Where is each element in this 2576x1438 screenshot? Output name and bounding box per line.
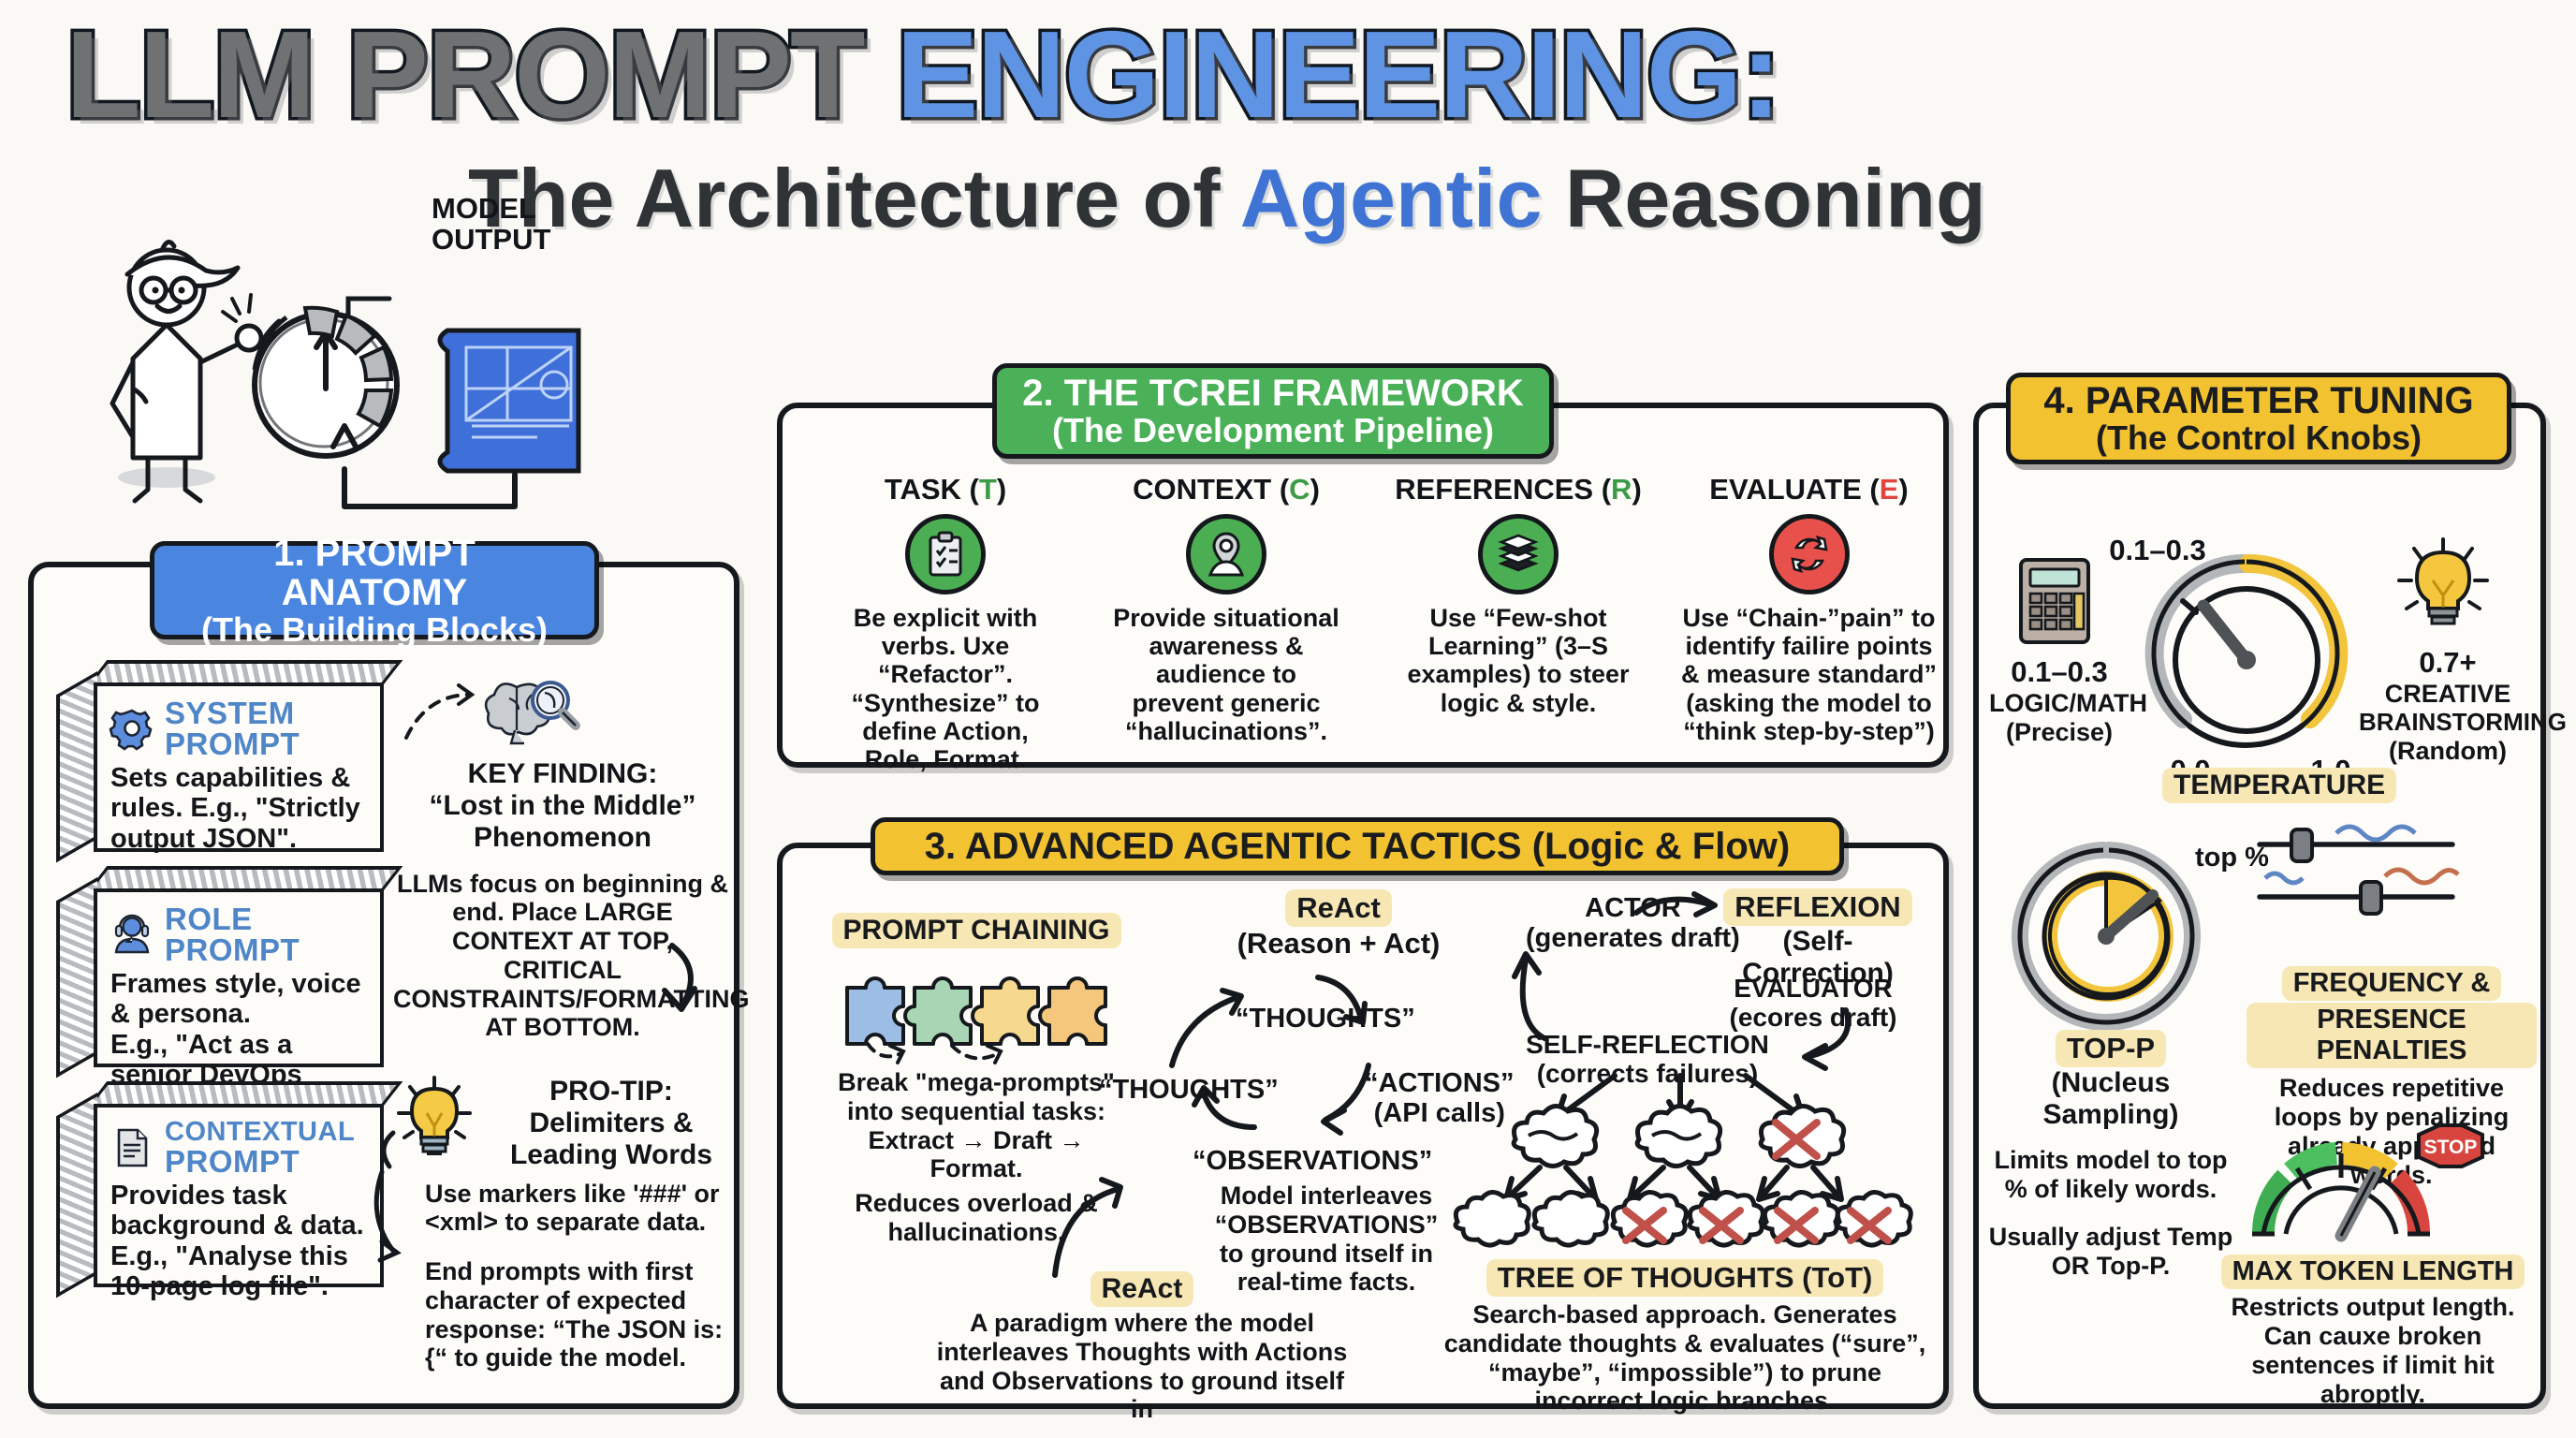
prompt-chaining-title: PROMPT CHAINING xyxy=(832,913,1121,948)
brain-magnifier-icon xyxy=(486,682,576,743)
subtitle-part-3: Reasoning xyxy=(1542,152,1985,244)
top-p-gauge xyxy=(1998,833,2214,1039)
react-caption: ReAct A paradigm where the model interle… xyxy=(936,1271,1348,1424)
react-caption-body: A paradigm where the model interleaves T… xyxy=(936,1309,1348,1424)
block-system-prompt: SYSTEM PROMPT Sets capabilities & rules.… xyxy=(56,660,384,852)
tc-icon-circle xyxy=(1478,514,1559,594)
pro-tip-heading-3: Leading Words xyxy=(485,1139,738,1171)
react-node-thoughts-top: “THOUGHTS” xyxy=(1236,1004,1415,1034)
max-tokens-block: MAX TOKEN LENGTH Restricts output length… xyxy=(2218,1255,2527,1409)
tot-title: TREE OF THOUGHTS (ToT) xyxy=(1486,1259,1884,1297)
key-finding-down-arrow xyxy=(655,936,768,1049)
gauge-stop-icon: STOP xyxy=(2228,1123,2509,1255)
block-role-prompt: ROLE PROMPT Frames style, voice & person… xyxy=(56,866,384,1067)
page-subtitle: The Architecture of Agentic Reasoning xyxy=(468,157,2565,240)
temperature-right-label-1: CREATIVE xyxy=(2359,680,2537,709)
pro-tip-heading-1: PRO-TIP: xyxy=(485,1076,738,1108)
block-label-line2: PROMPT xyxy=(165,1146,355,1177)
lightbulb-icon xyxy=(2392,536,2495,638)
key-finding-icon-row xyxy=(402,674,730,740)
tc-letter: C xyxy=(1289,473,1310,506)
panel3-banner: 3. ADVANCED AGENTIC TACTICS (Logic & Flo… xyxy=(871,817,1844,875)
key-finding-heading-2: “Lost in the Middle” xyxy=(393,790,732,822)
blueprint-icon xyxy=(440,330,578,471)
tcrei-column-references: REFERENCES (R) Use “Few-shot Learning” (… xyxy=(1392,473,1645,717)
tc-title-text: EVALUATE xyxy=(1709,473,1861,506)
thought-clouds xyxy=(1456,1106,1910,1245)
tc-title-text: TASK xyxy=(885,473,961,506)
panel2-banner: 2. THE TCREI FRAMEWORK (The Development … xyxy=(992,363,1554,459)
temperature-name-chip: TEMPERATURE xyxy=(2162,768,2378,803)
page-title: LLM PROMPT ENGINEERING: xyxy=(66,13,2555,154)
panel1-banner-line2: (The Building Blocks) xyxy=(179,612,570,648)
top-p-body-1: Limits model to top % of likely words. xyxy=(1984,1146,2237,1204)
tcrei-column-evaluate: EVALUATE (E) Use “Chain-”pain” to identi… xyxy=(1676,473,1942,745)
penalties-name-1: FREQUENCY & xyxy=(2282,966,2502,1001)
puzzle-pieces-icon xyxy=(836,960,1117,1064)
reflexion-evaluator: EVALUATOR xyxy=(1705,975,1921,1004)
tree-of-thoughts-diagram xyxy=(1446,1072,1914,1259)
tc-desc: Be explicit with verbs. Uxe “Refactor”. … xyxy=(828,604,1062,773)
temperature-left-value: 0.1–0.3 xyxy=(1989,655,2130,689)
title-part-llm-prompt: LLM PROMPT xyxy=(66,6,896,143)
stop-sign-icon: STOP xyxy=(2419,1125,2482,1167)
reflexion-right-arrow xyxy=(1747,1006,1859,1081)
top-p-subtitle: (Nucleus Sampling) xyxy=(1984,1067,2237,1131)
pro-tip-body-1: Use markers like '###' or <xml> to separ… xyxy=(391,1180,738,1238)
react-title: ReAct xyxy=(1285,889,1392,927)
temperature-right-value: 0.7+ xyxy=(2359,646,2537,680)
block-body: Provides task background & data. E.g., "… xyxy=(110,1181,367,1302)
title-part-engineering: ENGINEERING: xyxy=(896,6,1779,143)
tc-title-text: CONTEXT xyxy=(1133,473,1271,506)
block-label-line2: PROMPT xyxy=(165,934,300,965)
tc-letter: R xyxy=(1611,473,1632,506)
block-label-line2: PROMPT xyxy=(165,728,300,759)
tcrei-column-context: CONTEXT (C) Provide situational awarenes… xyxy=(1109,473,1343,745)
block-label-line1: CONTEXTUAL xyxy=(165,1119,355,1146)
react-node-thoughts-left: “THOUGHTS” xyxy=(1099,1075,1279,1106)
sliders-icon xyxy=(2247,824,2527,964)
books-icon xyxy=(1494,530,1543,579)
key-finding-heading-1: KEY FINDING: xyxy=(393,758,732,790)
reflexion-left-arrow xyxy=(1498,946,1619,1049)
tc-desc: Use “Chain-”pain” to identify failire po… xyxy=(1676,604,1942,745)
panel1-banner-line1: 1. PROMPT ANATOMY xyxy=(179,534,570,612)
top-p-block: TOP-P (Nucleus Sampling) Limits model to… xyxy=(1984,1030,2237,1281)
tc-letter: T xyxy=(979,473,997,506)
dial-label-line2: OUTPUT xyxy=(432,225,619,256)
block-label-line1: SYSTEM xyxy=(165,697,300,728)
top-p-name: TOP-P xyxy=(2056,1030,2166,1067)
panel4-banner: 4. PARAMETER TUNING (The Control Knobs) xyxy=(2006,373,2511,464)
tc-icon-circle xyxy=(905,514,986,594)
prompt-chaining-body-1: Break "mega-prompts" into sequential tas… xyxy=(822,1068,1131,1126)
lightbulb-icon xyxy=(391,1072,477,1169)
stick-figure-icon xyxy=(112,242,261,501)
tc-icon-circle xyxy=(1769,514,1850,594)
document-icon xyxy=(110,1126,154,1169)
location-pin-person-icon xyxy=(1202,530,1251,579)
temperature-left-block: 0.1–0.3 LOGIC/MATH (Precise) xyxy=(1989,655,2130,747)
block-label-line1: ROLE xyxy=(165,903,300,934)
penalties-name-2: PRESENCE PENALTIES xyxy=(2247,1003,2537,1068)
headset-person-icon xyxy=(110,913,154,956)
panel2-banner-line2: (The Development Pipeline) xyxy=(1021,413,1525,448)
reflexion-title: REFLEXION xyxy=(1723,888,1911,926)
subtitle-part-agentic: Agentic xyxy=(1240,152,1543,244)
react-caption-title: ReAct xyxy=(1090,1271,1194,1307)
refresh-cycle-icon xyxy=(1786,531,1833,578)
block-contextual-prompt: CONTEXTUAL PROMPT Provides task backgrou… xyxy=(56,1081,384,1287)
tc-icon-circle xyxy=(1186,514,1266,594)
panel4-banner-line1: 4. PARAMETER TUNING xyxy=(2035,381,2482,420)
gear-icon xyxy=(110,707,154,750)
block-body: Sets capabilities & rules. E.g., "Strict… xyxy=(110,763,367,854)
panel4-banner-line2: (The Control Knobs) xyxy=(2035,420,2482,456)
stop-label: STOP xyxy=(2424,1137,2478,1158)
pro-tip-heading-2: Delimiters & xyxy=(485,1108,738,1139)
panel3-banner-text: 3. ADVANCED AGENTIC TACTICS (Logic & Flo… xyxy=(900,827,1815,866)
tc-desc: Provide situational awareness & audience… xyxy=(1109,604,1343,745)
pro-tip-body-2: End prompts with first character of expe… xyxy=(391,1257,738,1372)
tot-caption: TREE OF THOUGHTS (ToT) Search-based appr… xyxy=(1442,1259,1928,1416)
max-tokens-body: Restricts output length. Can cauxe broke… xyxy=(2218,1293,2527,1409)
temperature-gauge xyxy=(2134,543,2359,777)
pro-tip: PRO-TIP: Delimiters & Leading Words Use … xyxy=(391,1072,738,1372)
key-finding-heading-3: Phenomenon xyxy=(393,822,732,854)
max-tokens-name: MAX TOKEN LENGTH xyxy=(2221,1255,2525,1289)
dial-icon xyxy=(255,308,397,456)
tot-body: Search-based approach. Generates candida… xyxy=(1442,1300,1928,1416)
tc-letter: E xyxy=(1880,473,1899,506)
calculator-icon xyxy=(2008,554,2101,648)
temperature-right-sub: (Random) xyxy=(2359,737,2537,766)
panel2-banner-line1: 2. THE TCREI FRAMEWORK xyxy=(1021,374,1525,413)
top-p-body-2: Usually adjust Temp OR Top-P. xyxy=(1984,1223,2237,1281)
react-caption-arrow xyxy=(1034,1152,1137,1283)
temperature-left-label: LOGIC/MATH xyxy=(1989,689,2130,718)
panel1-banner: 1. PROMPT ANATOMY (The Building Blocks) xyxy=(150,541,599,639)
tcrei-column-task: TASK (T) Be explicit with verbs. Uxe “Re… xyxy=(828,473,1062,773)
dial-callout-line xyxy=(348,299,389,315)
temperature-name: TEMPERATURE xyxy=(2162,768,2396,803)
dial-label-line1: MODEL xyxy=(432,194,619,225)
temperature-left-sub: (Precise) xyxy=(1989,718,2130,747)
temperature-right-label-2: BRAINSTORMING xyxy=(2359,709,2537,737)
clipboard-check-icon xyxy=(921,530,970,579)
hero-illustration: MODEL OUTPUT xyxy=(75,201,599,538)
temperature-right-block: 0.7+ CREATIVE BRAINSTORMING (Random) xyxy=(2359,646,2537,766)
tc-title-text: REFERENCES xyxy=(1395,473,1593,506)
dashed-arrow xyxy=(406,685,472,738)
react-node-observations: “OBSERVATIONS” xyxy=(1193,1146,1432,1177)
tc-desc: Use “Few-shot Learning” (3–S examples) t… xyxy=(1392,604,1645,717)
